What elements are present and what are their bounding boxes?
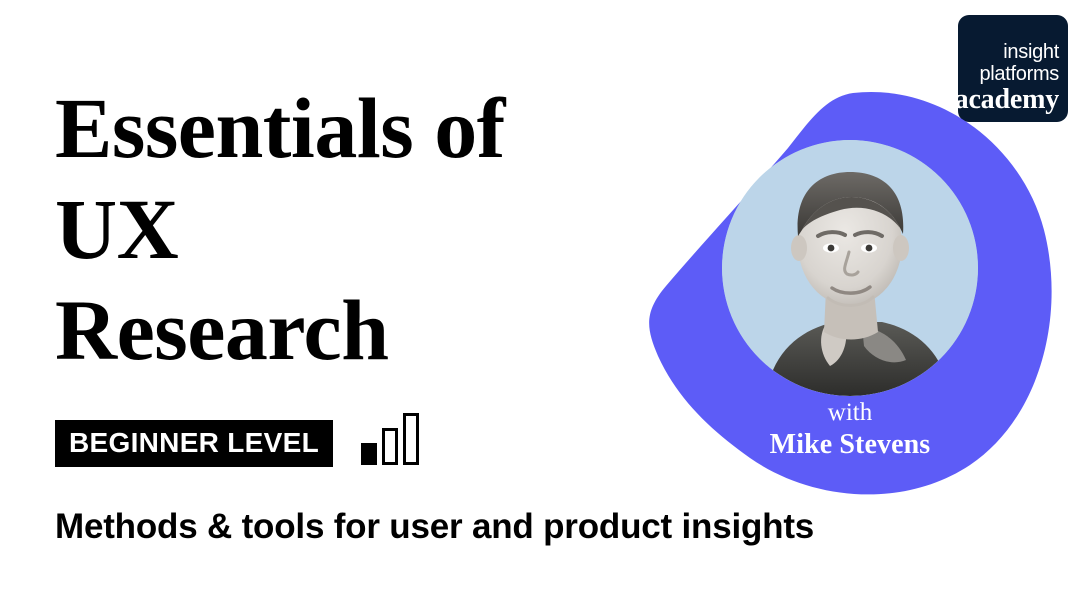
logo-line-insight: insight	[1003, 41, 1059, 63]
logo-line-platforms: platforms	[979, 63, 1059, 85]
course-title-line-3: Research	[55, 280, 675, 381]
course-title: Essentials of UX Research	[55, 78, 675, 381]
presenter-block: with Mike Stevens	[640, 88, 1060, 498]
level-bar-3-empty	[403, 413, 419, 465]
presenter-portrait-mike-stevens	[722, 140, 978, 396]
course-level-row: BEGINNER LEVEL	[55, 413, 419, 467]
course-subtitle: Methods & tools for user and product ins…	[55, 505, 814, 549]
course-title-slide: insight platforms academy Essentials of …	[0, 0, 1080, 608]
presenter-with-label: with	[640, 398, 1060, 428]
level-bar-2-empty	[382, 428, 398, 465]
presenter-name: Mike Stevens	[640, 428, 1060, 461]
presenter-caption: with Mike Stevens	[640, 398, 1060, 461]
course-title-line-2: UX	[55, 179, 675, 280]
level-badge: BEGINNER LEVEL	[55, 420, 333, 467]
presenter-avatar	[722, 140, 978, 396]
course-title-line-1: Essentials of	[55, 78, 675, 179]
bar-chart-level-icon	[361, 413, 419, 465]
level-bar-1-filled	[361, 443, 377, 465]
